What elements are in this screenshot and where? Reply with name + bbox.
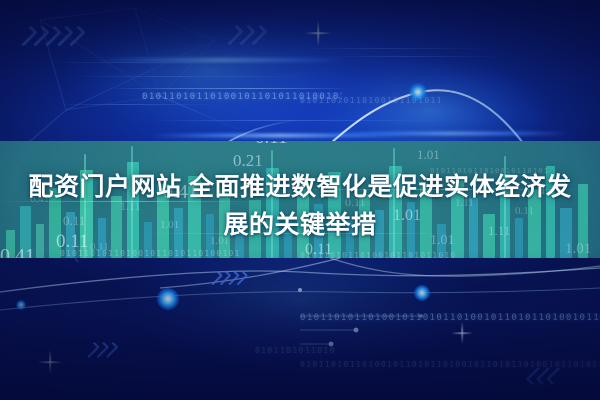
top-shade	[0, 0, 600, 120]
title-line-1: 配资门户网站 全面推进数智化是促进实体经济发	[29, 173, 572, 201]
title-line-2: 展的关键举措	[8, 206, 592, 244]
bottom-shade	[0, 250, 600, 400]
tech-line	[150, 120, 450, 121]
band-number: 0.11	[255, 141, 288, 149]
promo-banner: 010110101101001011010110100101101011 010…	[0, 0, 600, 400]
light-streak	[330, 132, 570, 135]
page-title: 配资门户网站 全面推进数智化是促进实体经济发 展的关键举措	[0, 168, 600, 244]
band-number: 1.01	[417, 147, 440, 163]
